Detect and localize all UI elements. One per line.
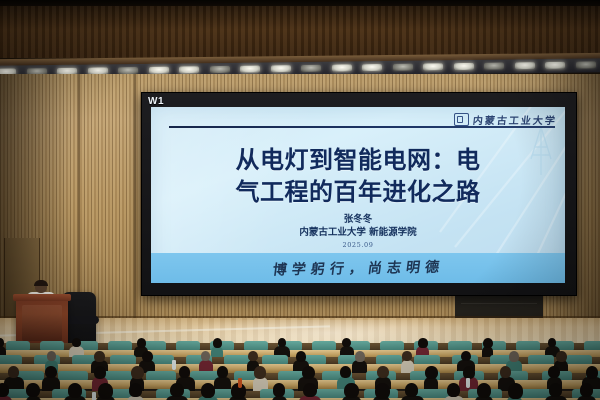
audience-member-head bbox=[254, 366, 266, 379]
audience-member-head bbox=[508, 383, 523, 399]
audience-member-head bbox=[129, 383, 142, 397]
ceiling-lamp bbox=[149, 67, 169, 74]
audience-member bbox=[272, 396, 288, 400]
audience-member-head bbox=[375, 383, 390, 399]
audience-seat bbox=[110, 355, 136, 364]
audience-member-head bbox=[248, 351, 258, 361]
slide-header-logo: 内蒙古工业大学 bbox=[454, 112, 557, 127]
audience-seat bbox=[380, 341, 404, 350]
ceiling-lamp bbox=[423, 63, 443, 70]
ceiling-lamp bbox=[271, 65, 291, 72]
presentation-slide: 内蒙古工业大学 从电灯到智能电网：电 气工程的百年进化之路 张冬冬 内蒙古工业大… bbox=[151, 107, 565, 283]
wall-seam bbox=[134, 74, 136, 326]
audience-member-head bbox=[303, 383, 317, 397]
audience-member-head bbox=[556, 351, 567, 362]
slide-date: 2025.09 bbox=[151, 241, 565, 249]
slide-motto: 博学躬行，尚志明德 bbox=[271, 257, 445, 280]
audience-seat bbox=[376, 355, 402, 364]
audience-member-head bbox=[500, 366, 511, 378]
audience-member-head bbox=[418, 338, 427, 348]
ceiling-lamp bbox=[393, 64, 413, 71]
university-crest-icon bbox=[454, 113, 469, 126]
audience-seat bbox=[312, 341, 336, 350]
ceiling-soffit bbox=[0, 6, 600, 58]
audience-seat bbox=[566, 355, 592, 364]
water-bottle bbox=[466, 378, 470, 388]
ceiling-lamp bbox=[240, 66, 260, 73]
audience-member-head bbox=[142, 351, 153, 362]
ceiling-lamp bbox=[210, 66, 230, 73]
audience-member-head bbox=[509, 351, 519, 362]
audience-member-head bbox=[137, 338, 146, 348]
audience-member-head bbox=[402, 351, 411, 361]
slide-author: 张冬冬 bbox=[151, 211, 565, 225]
ceiling-lamp bbox=[484, 63, 504, 70]
audience-member-head bbox=[170, 383, 184, 397]
audience-member bbox=[401, 396, 423, 400]
slide-motto-banner: 博学躬行，尚志明德 bbox=[151, 253, 565, 283]
audience-seat bbox=[516, 341, 540, 350]
audience-member-head bbox=[548, 366, 560, 378]
audience-member-head bbox=[278, 338, 286, 347]
audience-seat bbox=[528, 355, 554, 364]
audience-member-head bbox=[302, 366, 315, 379]
audience-member-head bbox=[45, 366, 57, 378]
audience-member-head bbox=[461, 351, 471, 361]
audience-member-head bbox=[98, 383, 113, 399]
audience-seat bbox=[6, 341, 30, 350]
audience-member-head bbox=[179, 366, 190, 378]
audience-member-head bbox=[483, 338, 493, 348]
ceiling-lamp bbox=[332, 64, 352, 71]
ceiling-lamp bbox=[545, 62, 565, 69]
slide-title-line-1: 从电灯到智能电网：电 bbox=[173, 145, 543, 177]
water-bottle bbox=[238, 378, 242, 388]
slide-title-line-2: 气工程的百年进化之路 bbox=[173, 177, 543, 209]
ceiling-lamp bbox=[576, 61, 596, 68]
slide-header-rule bbox=[169, 126, 555, 128]
wall-seam bbox=[78, 74, 80, 326]
audience-seat bbox=[40, 341, 64, 350]
lecture-hall-photo: W1 内蒙古工业大学 从电灯到智能电网：电 气工程的百年进化之路 张冬冬 内蒙古… bbox=[0, 0, 600, 400]
audience-member-head bbox=[47, 351, 57, 361]
ceiling-lamp bbox=[362, 64, 382, 71]
audience-member-head bbox=[0, 383, 9, 397]
audience-member-head bbox=[94, 351, 104, 362]
ceiling-lamp bbox=[454, 63, 474, 70]
audience-seat bbox=[108, 341, 132, 350]
display-label: W1 bbox=[148, 96, 164, 107]
university-name: 内蒙古工业大学 bbox=[472, 112, 558, 127]
audience-seat bbox=[58, 371, 88, 380]
audience-member-head bbox=[405, 383, 418, 397]
audience-member-head bbox=[342, 338, 351, 347]
audience-member-head bbox=[340, 366, 351, 378]
audience-seat bbox=[584, 341, 600, 350]
audience-seat bbox=[414, 355, 440, 364]
audience-member-head bbox=[355, 351, 366, 362]
podium bbox=[16, 297, 68, 345]
audience-member-head bbox=[94, 366, 106, 379]
audience-member-head bbox=[8, 366, 19, 378]
audience-seat bbox=[244, 341, 268, 350]
water-bottle bbox=[92, 392, 96, 400]
audience-seat bbox=[448, 341, 472, 350]
audience-member-head bbox=[68, 383, 82, 398]
audience-member-head bbox=[72, 338, 81, 347]
audience-member-head bbox=[548, 338, 556, 347]
audience-member-head bbox=[26, 383, 40, 397]
audience-member-head bbox=[131, 366, 144, 379]
audience-member-head bbox=[377, 366, 389, 378]
audience-member bbox=[545, 396, 566, 400]
audience-member-head bbox=[549, 383, 562, 397]
audience-seat bbox=[262, 355, 288, 364]
ceiling-lamp bbox=[179, 66, 199, 73]
audience-member-head bbox=[273, 383, 286, 397]
ceiling-lamp bbox=[301, 65, 321, 72]
water-bottle bbox=[172, 360, 176, 370]
audience-area bbox=[0, 352, 600, 400]
audience-member-head bbox=[217, 366, 229, 378]
ceiling-lamp bbox=[515, 62, 535, 69]
audience-member-head bbox=[586, 366, 598, 379]
audience-member-head bbox=[296, 351, 306, 362]
audience-member-head bbox=[477, 383, 491, 398]
audience-member-head bbox=[201, 383, 215, 398]
audience-member-head bbox=[201, 351, 210, 361]
audience-member-head bbox=[344, 383, 358, 398]
slide-title: 从电灯到智能电网：电 气工程的百年进化之路 bbox=[173, 145, 543, 208]
audience-seat bbox=[0, 355, 22, 364]
audience-member-head bbox=[213, 338, 223, 348]
audience-seat bbox=[176, 341, 200, 350]
audience-member bbox=[127, 396, 144, 400]
audience-member-head bbox=[447, 383, 461, 397]
slide-affiliation: 内蒙古工业大学 新能源学院 bbox=[151, 224, 565, 238]
audience-member-head bbox=[425, 366, 437, 379]
audience-member-head bbox=[580, 383, 594, 397]
audience-seat bbox=[224, 355, 250, 364]
audience-seat bbox=[146, 371, 176, 380]
